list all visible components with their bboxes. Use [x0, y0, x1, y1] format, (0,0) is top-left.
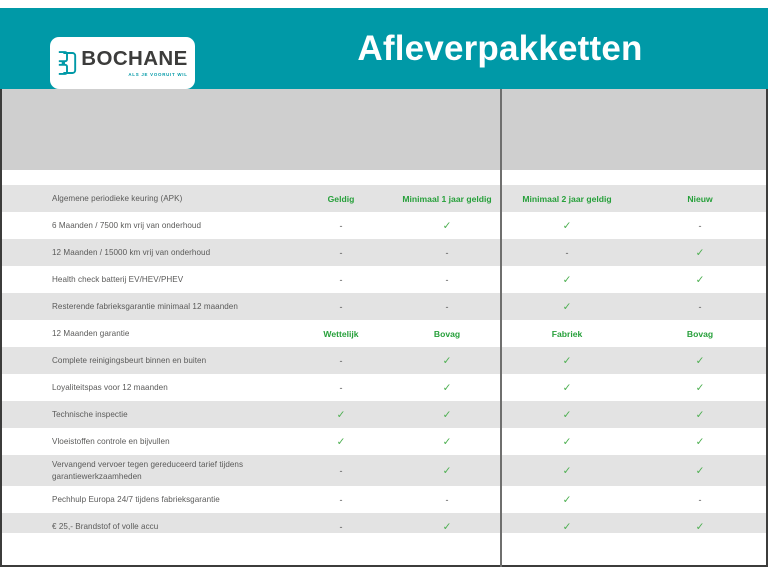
check-icon: ✓ — [696, 355, 705, 367]
check-icon: ✓ — [696, 436, 705, 448]
feature-value-cell: Fabriek — [502, 329, 632, 339]
check-icon: ✓ — [563, 521, 572, 533]
feature-label: Vloeistoffen controle en bijvullen — [52, 436, 284, 447]
feature-value-cell: ✓ — [394, 521, 500, 533]
feature-value-cell: ✓ — [632, 355, 768, 367]
check-icon: ✓ — [443, 465, 452, 477]
feature-value-cell: Minimaal 1 jaar geldig — [394, 194, 500, 204]
check-icon: ✓ — [337, 436, 346, 448]
check-icon: ✓ — [563, 436, 572, 448]
check-icon: ✓ — [696, 465, 705, 477]
table-footer-band — [0, 533, 768, 567]
dash-icon: - — [699, 221, 702, 231]
feature-value-cell: - — [288, 356, 394, 366]
header-body-spacer — [0, 170, 768, 185]
feature-value-cell: ✓ — [502, 274, 632, 286]
feature-value-cell: ✓ — [632, 247, 768, 259]
table-row: Technische inspectie✓✓✓✓ — [0, 401, 768, 428]
feature-label: Resterende fabrieksgarantie minimaal 12 … — [52, 301, 284, 312]
bochane-b-icon — [57, 49, 77, 77]
feature-value-cell: ✓ — [632, 409, 768, 421]
dash-icon: - — [446, 275, 449, 285]
table-row: Vervangend vervoer tegen gereduceerd tar… — [0, 455, 768, 486]
feature-value-cell: ✓ — [288, 436, 394, 448]
check-icon: ✓ — [443, 220, 452, 232]
check-icon: ✓ — [696, 274, 705, 286]
feature-value-cell: ✓ — [502, 382, 632, 394]
feature-value-cell: - — [288, 383, 394, 393]
feature-value-cell: - — [288, 495, 394, 505]
check-icon: ✓ — [443, 355, 452, 367]
dash-icon: - — [446, 495, 449, 505]
check-icon: ✓ — [563, 355, 572, 367]
check-icon: ✓ — [696, 382, 705, 394]
check-icon: ✓ — [443, 382, 452, 394]
dash-icon: - — [699, 302, 702, 312]
feature-value-cell: - — [394, 302, 500, 312]
feature-value-cell: ✓ — [394, 409, 500, 421]
feature-value-cell: ✓ — [394, 465, 500, 477]
page-header: BOCHANE ALS JE VOORUIT WIL Afleverpakket… — [0, 8, 768, 89]
check-icon: ✓ — [563, 274, 572, 286]
column-group-divider — [500, 89, 502, 567]
check-icon: ✓ — [696, 247, 705, 259]
feature-value-cell: Wettelijk — [288, 329, 394, 339]
dash-icon: - — [340, 522, 343, 532]
check-icon: ✓ — [563, 494, 572, 506]
dash-icon: - — [340, 466, 343, 476]
feature-value-cell: - — [394, 495, 500, 505]
bochane-logo: BOCHANE ALS JE VOORUIT WIL — [50, 37, 195, 89]
feature-comparison-table: Algemene periodieke keuring (APK)GeldigM… — [0, 185, 768, 540]
check-icon: ✓ — [563, 409, 572, 421]
dash-icon: - — [340, 221, 343, 231]
check-icon: ✓ — [443, 521, 452, 533]
table-row: Resterende fabrieksgarantie minimaal 12 … — [0, 293, 768, 320]
feature-value-cell: ✓ — [394, 220, 500, 232]
check-icon: ✓ — [443, 436, 452, 448]
logo-tagline: ALS JE VOORUIT WIL — [128, 72, 187, 77]
feature-value-cell: - — [632, 302, 768, 312]
check-icon: ✓ — [563, 382, 572, 394]
column-header-band: Totaalprijs Standaard pakket Basis pakke… — [0, 89, 768, 170]
feature-value-cell: ✓ — [632, 382, 768, 394]
feature-label: Algemene periodieke keuring (APK) — [52, 193, 284, 204]
feature-label: Complete reinigingsbeurt binnen en buite… — [52, 355, 284, 366]
dash-icon: - — [340, 302, 343, 312]
table-row: 12 Maanden / 15000 km vrij van onderhoud… — [0, 239, 768, 266]
check-icon: ✓ — [563, 220, 572, 232]
feature-label: Technische inspectie — [52, 409, 284, 420]
feature-value-cell: Geldig — [288, 194, 394, 204]
table-row: Vloeistoffen controle en bijvullen✓✓✓✓ — [0, 428, 768, 455]
feature-value-cell: ✓ — [288, 409, 394, 421]
dash-icon: - — [340, 248, 343, 258]
table-row: 12 Maanden garantieWettelijkBovagFabriek… — [0, 320, 768, 347]
table-row: Algemene periodieke keuring (APK)GeldigM… — [0, 185, 768, 212]
feature-value-cell: - — [502, 248, 632, 258]
feature-label: 6 Maanden / 7500 km vrij van onderhoud — [52, 220, 284, 231]
dash-icon: - — [566, 248, 569, 258]
feature-value-cell: ✓ — [632, 521, 768, 533]
feature-label: Loyaliteitspas voor 12 maanden — [52, 382, 284, 393]
table-row: Health check batterij EV/HEV/PHEV--✓✓ — [0, 266, 768, 293]
feature-value-cell: - — [632, 495, 768, 505]
feature-value-cell: - — [288, 522, 394, 532]
feature-value-cell: ✓ — [632, 465, 768, 477]
feature-value-cell: ✓ — [502, 436, 632, 448]
dash-icon: - — [340, 356, 343, 366]
page-title: Afleverpakketten — [232, 8, 768, 89]
feature-value-cell: ✓ — [394, 436, 500, 448]
table-row: 6 Maanden / 7500 km vrij van onderhoud-✓… — [0, 212, 768, 239]
dash-icon: - — [699, 495, 702, 505]
feature-value-cell: Nieuw — [632, 194, 768, 204]
check-icon: ✓ — [337, 409, 346, 421]
check-icon: ✓ — [696, 521, 705, 533]
feature-value-cell: - — [288, 248, 394, 258]
check-icon: ✓ — [443, 409, 452, 421]
feature-value-cell: - — [288, 466, 394, 476]
feature-value-cell: ✓ — [502, 409, 632, 421]
table-row: Complete reinigingsbeurt binnen en buite… — [0, 347, 768, 374]
check-icon: ✓ — [563, 465, 572, 477]
feature-label: 12 Maanden garantie — [52, 328, 284, 339]
feature-value-cell: ✓ — [502, 355, 632, 367]
feature-value-cell: - — [394, 248, 500, 258]
feature-label: Health check batterij EV/HEV/PHEV — [52, 274, 284, 285]
feature-value-cell: - — [288, 221, 394, 231]
feature-value-cell: ✓ — [394, 382, 500, 394]
dash-icon: - — [340, 275, 343, 285]
table-left-border — [0, 89, 2, 567]
feature-value-cell: Bovag — [394, 329, 500, 339]
feature-value-cell: ✓ — [632, 436, 768, 448]
dash-icon: - — [446, 248, 449, 258]
logo-text-block: BOCHANE ALS JE VOORUIT WIL — [81, 49, 187, 77]
feature-value-cell: Minimaal 2 jaar geldig — [502, 194, 632, 204]
table-row: Loyaliteitspas voor 12 maanden-✓✓✓ — [0, 374, 768, 401]
dash-icon: - — [446, 302, 449, 312]
feature-label: € 25,- Brandstof of volle accu — [52, 521, 284, 532]
table-bottom-border — [0, 565, 768, 567]
feature-value-cell: ✓ — [502, 494, 632, 506]
table-row: Pechhulp Europa 24/7 tijdens fabrieksgar… — [0, 486, 768, 513]
feature-label: 12 Maanden / 15000 km vrij van onderhoud — [52, 247, 284, 258]
dash-icon: - — [340, 495, 343, 505]
feature-value-cell: - — [288, 302, 394, 312]
feature-value-cell: ✓ — [502, 220, 632, 232]
feature-value-cell: ✓ — [502, 465, 632, 477]
feature-label: Vervangend vervoer tegen gereduceerd tar… — [52, 459, 284, 482]
feature-label: Pechhulp Europa 24/7 tijdens fabrieksgar… — [52, 494, 284, 505]
afleverpakketten-comparison-sheet: BOCHANE ALS JE VOORUIT WIL Afleverpakket… — [0, 0, 768, 576]
check-icon: ✓ — [696, 409, 705, 421]
feature-value-cell: ✓ — [502, 301, 632, 313]
dash-icon: - — [340, 383, 343, 393]
feature-value-cell: - — [288, 275, 394, 285]
feature-value-cell: ✓ — [394, 355, 500, 367]
feature-value-cell: ✓ — [632, 274, 768, 286]
feature-value-cell: Bovag — [632, 329, 768, 339]
feature-value-cell: - — [632, 221, 768, 231]
check-icon: ✓ — [563, 301, 572, 313]
feature-value-cell: - — [394, 275, 500, 285]
feature-value-cell: ✓ — [502, 521, 632, 533]
logo-wordmark: BOCHANE — [81, 49, 187, 70]
